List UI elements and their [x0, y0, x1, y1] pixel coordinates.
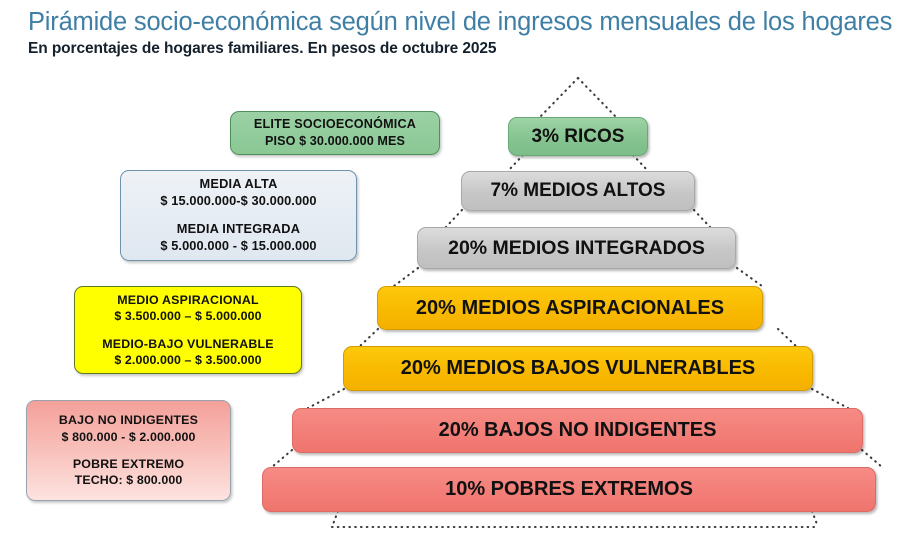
- sidebox-line: POBRE EXTREMO: [73, 456, 184, 472]
- sidebox-line: MEDIA INTEGRADA: [177, 221, 300, 238]
- sidebox-line: $ 800.000 - $ 2.000.000: [62, 429, 196, 445]
- sidebox-line: $ 2.000.000 – $ 3.500.000: [114, 352, 261, 368]
- pyramid-bar-label: 20% MEDIOS INTEGRADOS: [448, 237, 705, 260]
- sidebox-line: ELITE SOCIOECONÓMICA: [254, 116, 416, 133]
- sidebox-line: PISO $ 30.000.000 MES: [265, 133, 405, 150]
- sidebox-line: MEDIO-BAJO VULNERABLE: [102, 336, 273, 352]
- pyramid-bar-pobres-extremos: 10% POBRES EXTREMOS: [262, 467, 876, 512]
- pyramid-bar-label: 10% POBRES EXTREMOS: [445, 478, 693, 501]
- pyramid-bar-label: 20% MEDIOS BAJOS VULNERABLES: [401, 357, 756, 380]
- pyramid-bar-label: 20% BAJOS NO INDIGENTES: [439, 419, 717, 442]
- pyramid-bar-ricos: 3% RICOS: [508, 117, 648, 156]
- sidebox-line: $ 15.000.000-$ 30.000.000: [160, 193, 316, 210]
- sidebox-elite-socioeconomica: ELITE SOCIOECONÓMICA PISO $ 30.000.000 M…: [230, 111, 440, 155]
- pyramid-bar-medios-aspiracionales: 20% MEDIOS ASPIRACIONALES: [377, 286, 763, 330]
- pyramid-bar-medios-altos: 7% MEDIOS ALTOS: [461, 171, 695, 211]
- sidebox-line: $ 5.000.000 - $ 15.000.000: [160, 238, 316, 255]
- sidebox-medio-aspiracional-vulnerable: MEDIO ASPIRACIONAL $ 3.500.000 – $ 5.000…: [74, 286, 302, 374]
- pyramid-bar-label: 7% MEDIOS ALTOS: [491, 180, 666, 202]
- sidebox-line: $ 3.500.000 – $ 5.000.000: [114, 308, 261, 324]
- sidebox-media-alta-integrada: MEDIA ALTA $ 15.000.000-$ 30.000.000 MED…: [120, 170, 357, 261]
- pyramid-bar-medios-integrados: 20% MEDIOS INTEGRADOS: [417, 227, 736, 269]
- pyramid-bar-label: 20% MEDIOS ASPIRACIONALES: [416, 297, 724, 320]
- sidebox-line: MEDIO ASPIRACIONAL: [117, 292, 259, 308]
- pyramid-bar-medios-bajos-vulnerables: 20% MEDIOS BAJOS VULNERABLES: [343, 346, 813, 391]
- pyramid-bar-bajos-no-indigentes: 20% BAJOS NO INDIGENTES: [292, 408, 863, 453]
- page-subtitle: En porcentajes de hogares familiares. En…: [28, 40, 496, 58]
- sidebox-bajo-pobre-extremo: BAJO NO INDIGENTES $ 800.000 - $ 2.000.0…: [26, 400, 231, 501]
- sidebox-line: BAJO NO INDIGENTES: [59, 412, 198, 428]
- sidebox-line: MEDIA ALTA: [199, 176, 277, 193]
- sidebox-line: TECHO: $ 800.000: [75, 472, 183, 488]
- pyramid-bar-label: 3% RICOS: [532, 126, 625, 148]
- infographic-canvas: Pirámide socio-económica según nivel de …: [0, 0, 900, 540]
- page-title: Pirámide socio-económica según nivel de …: [28, 8, 892, 37]
